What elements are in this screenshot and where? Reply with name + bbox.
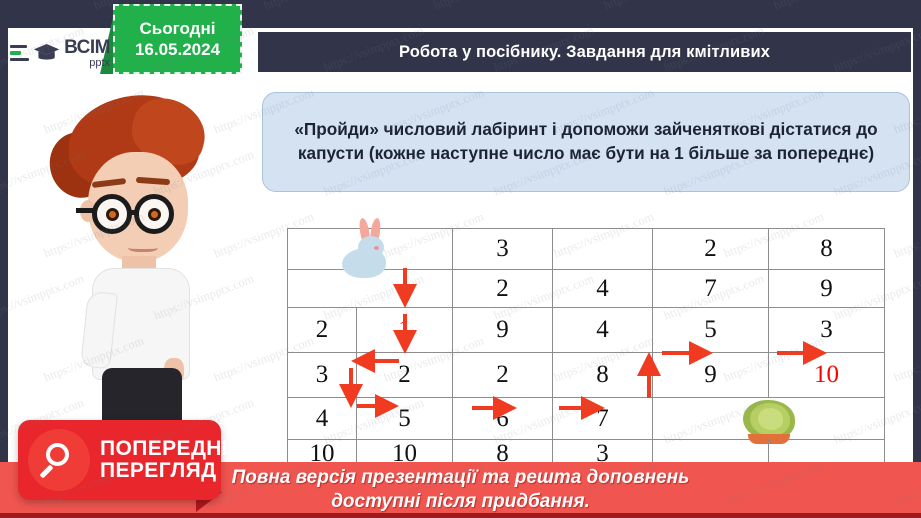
maze-cell: 9	[453, 308, 553, 353]
instruction-text: «Пройди» числовий лабіринт і допоможи за…	[289, 118, 883, 165]
maze-cell: 5	[357, 398, 453, 440]
preview-badge[interactable]: ПОПЕРЕДНІЙ ПЕРЕГЛЯД	[18, 420, 221, 500]
maze-cell: 8	[769, 228, 885, 270]
preview-icon-circle	[28, 429, 90, 491]
watermark-text: https://vsimpptx.com	[771, 0, 875, 13]
banner-line-2: доступні після придбання.	[331, 490, 590, 514]
watermark-text: https://vsimpptx.com	[0, 0, 26, 13]
maze-cell: 6	[453, 398, 553, 440]
slide-root: Робота у посібнику. Завдання для кмітлив…	[0, 0, 921, 518]
banner-bottom-strip	[0, 513, 921, 518]
graduation-cap-icon	[33, 40, 60, 66]
speed-lines-icon	[10, 45, 29, 62]
maze-cell: 9	[653, 353, 769, 398]
brand-name: ВСІМ	[64, 38, 110, 57]
instruction-bubble: «Пройди» числовий лабіринт і допоможи за…	[262, 92, 910, 192]
maze-cell	[553, 228, 653, 270]
banner-line-1: Повна версія презентації та решта доповн…	[232, 466, 690, 490]
maze-cell-path: 10	[769, 353, 885, 398]
preview-label-line2: ПЕРЕГЛЯД	[100, 460, 244, 482]
maze-cell: 2	[653, 228, 769, 270]
maze-cell: 3	[287, 353, 357, 398]
maze-cell: 7	[653, 270, 769, 308]
brand-sub: pptx	[64, 58, 110, 69]
maze-cell: 3	[769, 308, 885, 353]
brand-logo: ВСІМ pptx	[10, 30, 110, 76]
watermark-text: https://vsimpptx.com	[601, 0, 705, 13]
maze-cell: 4	[553, 308, 653, 353]
maze-cell: 7	[553, 398, 653, 440]
preview-label-line1: ПОПЕРЕДНІЙ	[100, 438, 244, 460]
maze-cell: 2	[453, 270, 553, 308]
maze-cell	[287, 270, 453, 308]
maze-cell: 9	[769, 270, 885, 308]
maze-cell: 2	[357, 353, 453, 398]
header-bar: Робота у посібнику. Завдання для кмітлив…	[256, 30, 913, 74]
date-flag-date: 16.05.2024	[135, 39, 220, 60]
maze-cell-start	[287, 228, 453, 270]
maze-cell-path: 1	[357, 308, 453, 353]
magnifier-icon	[42, 443, 76, 477]
maze-cell: 4	[553, 270, 653, 308]
page-title: Робота у посібнику. Завдання для кмітлив…	[399, 43, 770, 62]
number-maze-grid: 3 2 8 2 4 7 9 2 1 9 4 5 3 3 2 2 8 9 10 4…	[287, 228, 885, 466]
boy-character-illustration	[36, 96, 246, 426]
watermark-text: https://vsimpptx.com	[261, 0, 365, 13]
cabbage-icon	[740, 394, 798, 444]
watermark-text: https://vsimpptx.com	[431, 0, 535, 13]
maze-cell: 2	[287, 308, 357, 353]
maze-cell: 8	[553, 353, 653, 398]
date-flag: Сьогодні 16.05.2024	[113, 4, 242, 74]
maze-cell: 3	[453, 228, 553, 270]
maze-cell: 2	[453, 353, 553, 398]
maze-cell-goal	[653, 398, 885, 440]
date-flag-label: Сьогодні	[140, 18, 216, 39]
maze-cell: 5	[653, 308, 769, 353]
maze-cell: 4	[287, 398, 357, 440]
